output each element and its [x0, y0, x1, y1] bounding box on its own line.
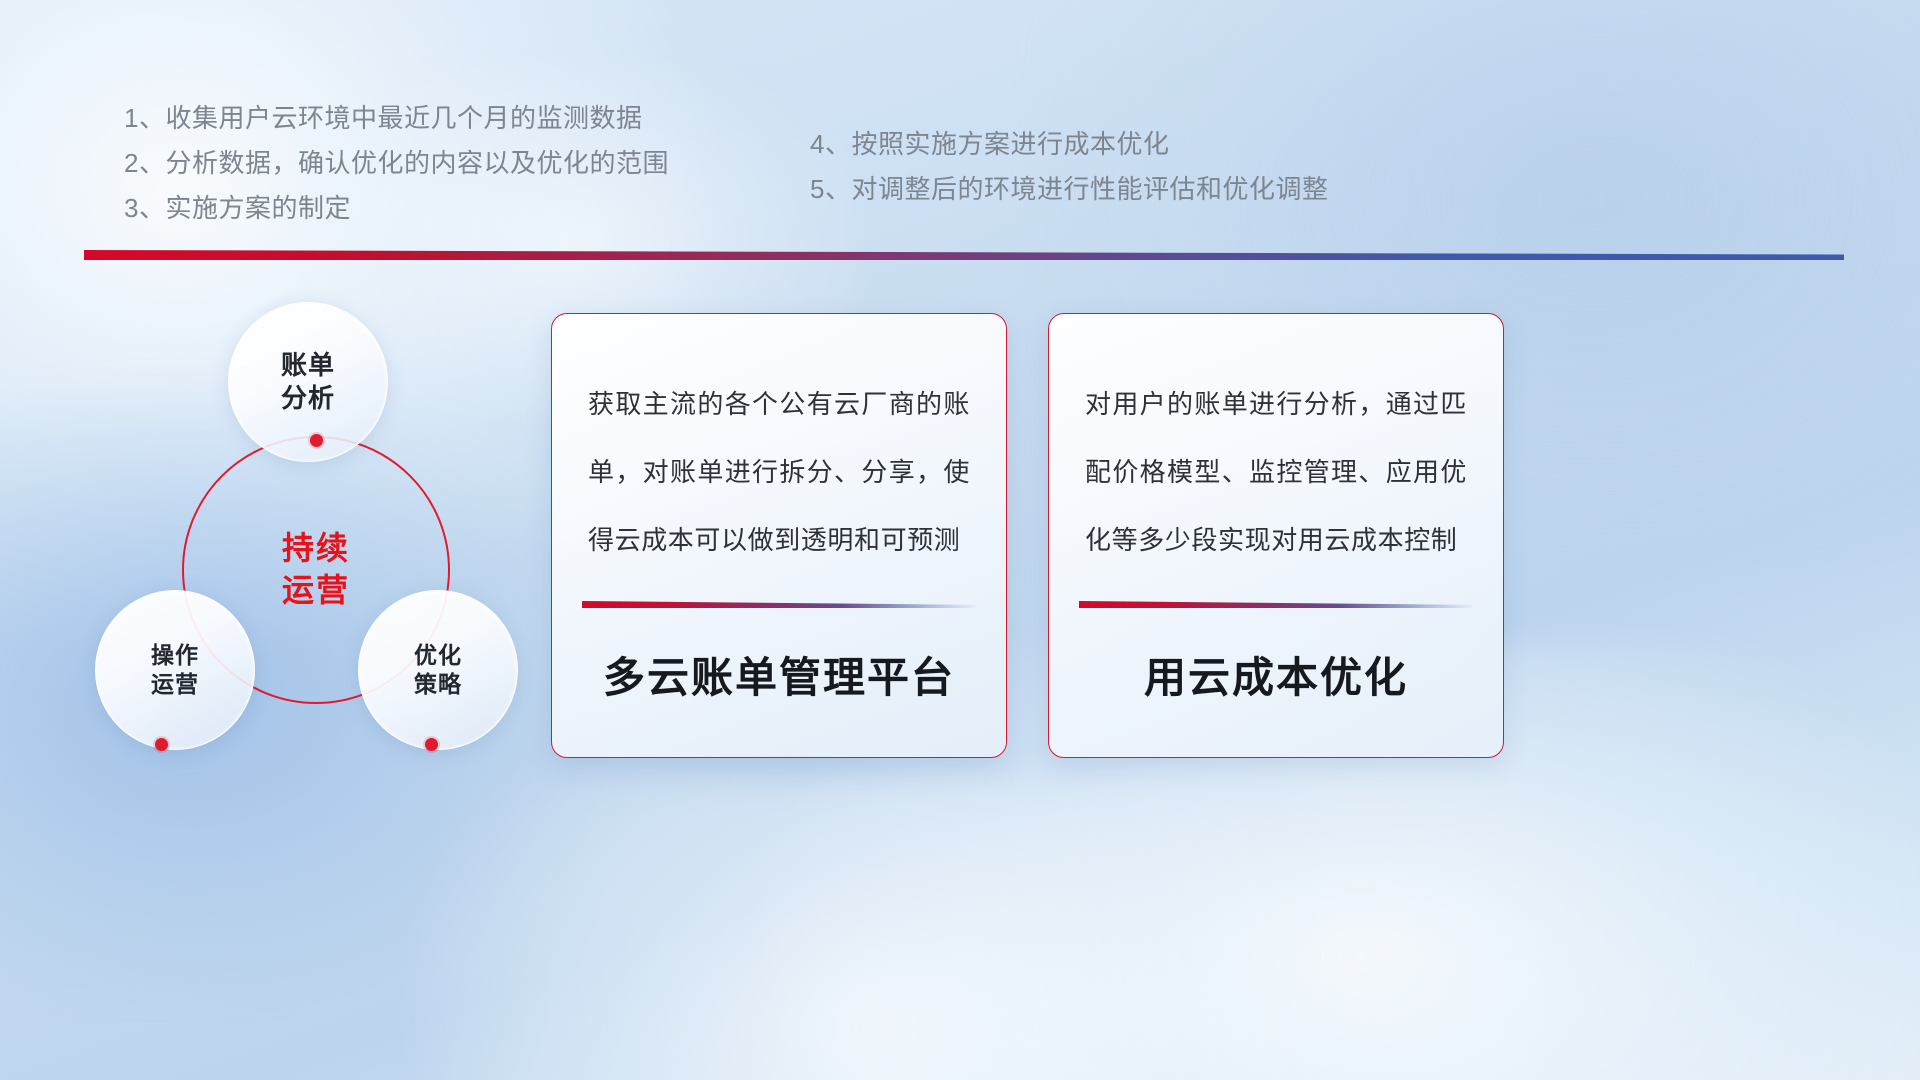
step-item-1: 1、收集用户云环境中最近几个月的监测数据 [124, 96, 669, 141]
step-item-5: 5、对调整后的环境进行性能评估和优化调整 [810, 167, 1328, 212]
card-cloud-cost-optimization[interactable]: 对用户的账单进行分析，通过匹配价格模型、监控管理、应用优化等多少段实现对用云成本… [1048, 313, 1504, 758]
card-title: 多云账单管理平台 [552, 644, 1006, 705]
steps-list-right: 4、按照实施方案进行成本优化 5、对调整后的环境进行性能评估和优化调整 [810, 122, 1328, 212]
card-body-text: 对用户的账单进行分析，通过匹配价格模型、监控管理、应用优化等多少段实现对用云成本… [1085, 370, 1467, 574]
venn-center-label-line1: 持续 [282, 528, 350, 570]
card-body-text: 获取主流的各个公有云厂商的账单，对账单进行拆分、分享，使得云成本可以做到透明和可… [588, 370, 970, 574]
venn-node-label: 账单 分析 [281, 349, 335, 416]
venn-marker-dot-bottom-left [155, 738, 168, 751]
venn-marker-dot-top [310, 434, 323, 447]
step-item-4: 4、按照实施方案进行成本优化 [810, 122, 1328, 167]
venn-node-bill-analysis[interactable]: 账单 分析 [228, 302, 388, 462]
venn-node-label-line1: 账单 [281, 349, 335, 382]
card-divider [582, 601, 976, 608]
venn-node-label-line2: 策略 [414, 670, 462, 699]
step-item-3: 3、实施方案的制定 [124, 186, 669, 231]
card-title: 用云成本优化 [1049, 644, 1503, 705]
card-divider-gradient-bar [1079, 601, 1473, 608]
venn-center-label-wrap: 持续 运营 [182, 480, 450, 660]
card-multi-cloud-billing-platform[interactable]: 获取主流的各个公有云厂商的账单，对账单进行拆分、分享，使得云成本可以做到透明和可… [551, 313, 1007, 758]
card-divider-gradient-bar [582, 601, 976, 608]
step-item-2: 2、分析数据，确认优化的内容以及优化的范围 [124, 141, 669, 186]
slide-content: 1、收集用户云环境中最近几个月的监测数据 2、分析数据，确认优化的内容以及优化的… [0, 0, 1920, 1080]
venn-diagram: 账单 分析 操作 运营 优化 策略 持续 运营 [80, 290, 550, 780]
venn-node-label-line2: 分析 [281, 382, 335, 415]
venn-marker-dot-bottom-right [425, 738, 438, 751]
divider-gradient-bar [84, 250, 1844, 260]
venn-center-label-line2: 运营 [282, 570, 350, 612]
venn-node-label-line2: 运营 [151, 670, 199, 699]
venn-center-label: 持续 运营 [282, 528, 350, 611]
steps-list-left: 1、收集用户云环境中最近几个月的监测数据 2、分析数据，确认优化的内容以及优化的… [124, 96, 669, 231]
section-divider [84, 250, 1844, 260]
card-divider [1079, 601, 1473, 608]
